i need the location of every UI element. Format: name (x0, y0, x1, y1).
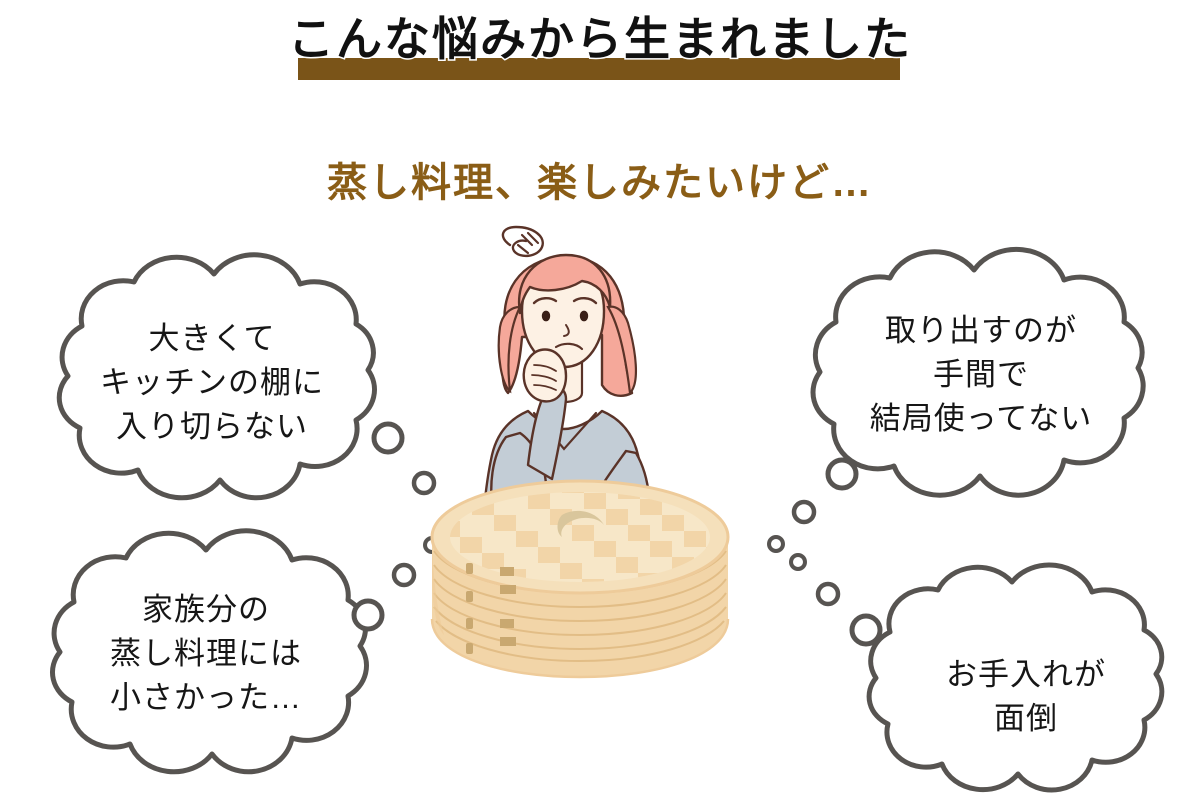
thought-bubble-bottom-left: 家族分の 蒸し料理には 小さかった… (30, 528, 390, 776)
thought-bubble-bottom-right: お手入れが 面倒 (848, 562, 1180, 792)
thought-trail-bottom-right (770, 540, 890, 660)
illustration-woman-thinking-with-steamer (410, 215, 750, 725)
page-subtitle: 蒸し料理、楽しみたいけど… (0, 150, 1200, 208)
thought-bubble-shape (848, 562, 1180, 792)
page-title: こんな悩みから生まれました (0, 12, 1200, 67)
poster-canvas: こんな悩みから生まれました 蒸し料理、楽しみたいけど… 大きくて キッチンの棚に… (0, 0, 1200, 800)
page-title-block: こんな悩みから生まれました (0, 12, 1200, 67)
thought-bubble-shape (30, 528, 390, 776)
thought-bubble-shape (38, 252, 398, 502)
bamboo-steamer-basket (410, 477, 750, 677)
thought-bubble-top-left: 大きくて キッチンの棚に 入り切らない (38, 252, 398, 502)
confusion-scribble-icon (503, 227, 543, 256)
eye-left (542, 311, 550, 322)
eye-right (580, 311, 588, 322)
